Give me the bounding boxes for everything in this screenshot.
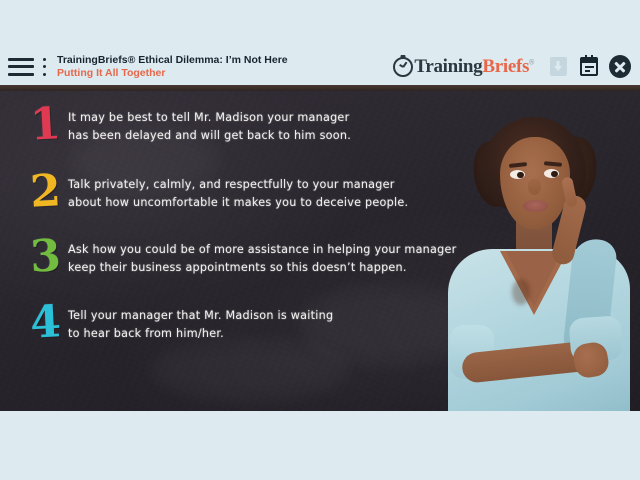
lesson-subtitle: Putting It All Together bbox=[57, 67, 288, 79]
header-titles: TrainingBriefs® Ethical Dilemma: I’m Not… bbox=[57, 54, 288, 79]
hamburger-menu-icon[interactable] bbox=[8, 58, 34, 76]
player-footer bbox=[0, 411, 640, 480]
header-right-group: TrainingBriefs® bbox=[393, 56, 640, 78]
option-number: 4 bbox=[21, 300, 69, 346]
kebab-dot bbox=[43, 58, 46, 61]
stopwatch-icon bbox=[393, 57, 413, 77]
option-number: 3 bbox=[21, 234, 69, 280]
nose bbox=[528, 179, 541, 195]
close-icon bbox=[609, 55, 631, 78]
option-text: Tell your manager that Mr. Madison is wa… bbox=[68, 301, 333, 343]
eye-left bbox=[510, 170, 525, 179]
notes-header-bar bbox=[582, 59, 596, 63]
presenter-photo bbox=[440, 111, 640, 411]
more-options-icon[interactable] bbox=[37, 58, 51, 76]
logo-text-primary: Training bbox=[414, 56, 482, 77]
logo-wordmark: TrainingBriefs® bbox=[414, 56, 534, 78]
chalkboard-slide: 1 It may be best to tell Mr. Madison you… bbox=[0, 85, 640, 411]
eye-right bbox=[544, 169, 559, 178]
chalkboard-frame bbox=[0, 85, 640, 91]
download-button[interactable] bbox=[547, 56, 569, 78]
kebab-dot bbox=[43, 65, 46, 68]
list-item[interactable]: 4 Tell your manager that Mr. Madison is … bbox=[22, 301, 333, 345]
logo-registered-mark: ® bbox=[529, 59, 534, 66]
hamburger-line bbox=[8, 58, 34, 61]
lips bbox=[523, 200, 548, 212]
player-header: TrainingBriefs® Ethical Dilemma: I’m Not… bbox=[0, 48, 640, 85]
option-text: It may be best to tell Mr. Madison your … bbox=[68, 103, 351, 145]
notes-button[interactable] bbox=[578, 56, 600, 78]
download-icon bbox=[550, 57, 567, 76]
notes-line bbox=[585, 66, 594, 68]
close-button[interactable] bbox=[609, 56, 631, 78]
notes-icon bbox=[580, 57, 598, 76]
chalk-smudge bbox=[150, 340, 350, 400]
option-text: Talk privately, calmly, and respectfully… bbox=[68, 170, 408, 212]
option-number: 1 bbox=[21, 102, 69, 148]
option-number: 2 bbox=[21, 169, 69, 215]
slide-player: TrainingBriefs® Ethical Dilemma: I’m Not… bbox=[0, 0, 640, 480]
hamburger-line bbox=[8, 73, 34, 76]
stopwatch-crown bbox=[401, 55, 406, 59]
chest-shadow bbox=[512, 279, 530, 305]
kebab-dot bbox=[43, 73, 46, 76]
list-item[interactable]: 3 Ask how you could be of more assistanc… bbox=[22, 235, 456, 279]
trainingbriefs-logo: TrainingBriefs® bbox=[393, 56, 534, 78]
list-item[interactable]: 2 Talk privately, calmly, and respectful… bbox=[22, 170, 408, 214]
logo-text-secondary: Briefs bbox=[482, 56, 529, 77]
hamburger-line bbox=[8, 65, 34, 68]
header-left-group: TrainingBriefs® Ethical Dilemma: I’m Not… bbox=[0, 54, 288, 79]
list-item[interactable]: 1 It may be best to tell Mr. Madison you… bbox=[22, 103, 351, 147]
notes-line bbox=[585, 70, 591, 72]
option-text: Ask how you could be of more assistance … bbox=[68, 235, 456, 277]
course-title: TrainingBriefs® Ethical Dilemma: I’m Not… bbox=[57, 54, 288, 66]
